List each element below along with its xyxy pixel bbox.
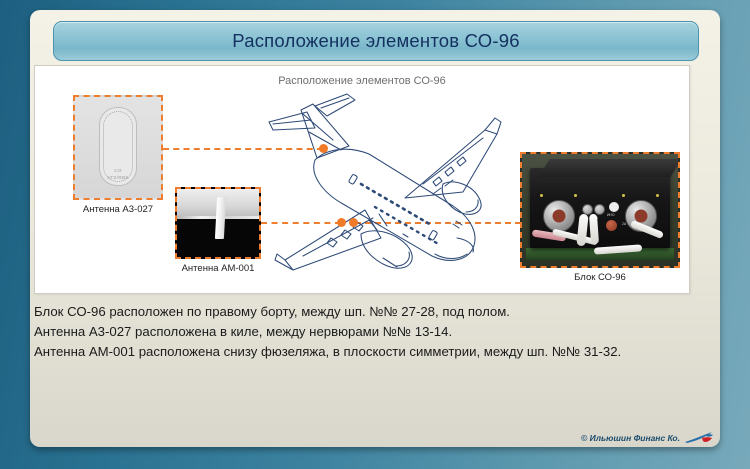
aircraft-diagram	[257, 88, 517, 288]
connector-small-2	[594, 204, 605, 215]
body-text: Блок СО-96 расположен по правому борту, …	[34, 302, 694, 362]
figure-caption-a3-027: Антенна А3-027	[73, 204, 163, 215]
slide-title-bar: Расположение элементов СО-96	[53, 21, 699, 61]
figure-block-co-96: 3 6 ИНО 2А Блок СО-96	[520, 152, 680, 283]
figure-antenna-a3-027: CO ATS/RBS Антенна А3-027	[73, 95, 163, 215]
screw-icon	[574, 194, 577, 197]
diagram-panel: Расположение элементов СО-96	[34, 65, 690, 294]
antenna-a3-027-image: CO ATS/RBS	[73, 95, 163, 200]
connector-core	[553, 210, 566, 223]
footer: © Ильюшин Финанс Ко.	[581, 431, 714, 445]
block-co-96-image: 3 6 ИНО 2А	[520, 152, 680, 268]
antenna-plate-line2: ATS/RBS	[100, 175, 136, 180]
company-logo-icon	[684, 431, 714, 445]
page-title: Расположение элементов СО-96	[232, 30, 519, 52]
antenna-am-001-image	[175, 187, 261, 259]
screw-icon	[656, 194, 659, 197]
screw-icon	[622, 194, 625, 197]
block-top-face	[538, 159, 680, 177]
marker-dot-am-001	[337, 218, 346, 227]
body-line-3: Антенна АМ-001 расположена снизу фюзеляж…	[34, 342, 694, 362]
figure-antenna-am-001: Антенна АМ-001	[175, 187, 261, 274]
block-tag-4: 2А	[622, 222, 626, 226]
indicator-lamp	[609, 202, 619, 212]
slide-card: Расположение элементов СО-96 Расположени…	[30, 10, 720, 447]
diagram-title: Расположение элементов СО-96	[35, 75, 689, 87]
antenna-plate-line1: CO	[100, 168, 136, 173]
blade-antenna-shape	[214, 197, 225, 239]
figure-caption-am-001: Антенна АМ-001	[175, 263, 261, 274]
reset-button	[606, 220, 617, 231]
block-tag-3: ИНО	[607, 213, 615, 217]
body-line-2: Антенна А3-027 расположена в киле, между…	[34, 322, 694, 342]
figure-caption-block-co-96: Блок СО-96	[520, 272, 680, 283]
marker-dot-a3-027	[319, 144, 328, 153]
body-line-1: Блок СО-96 расположен по правому борту, …	[34, 302, 694, 322]
connector-left	[543, 200, 575, 232]
aircraft-icon	[257, 88, 517, 288]
copyright-text: © Ильюшин Финанс Ко.	[581, 433, 680, 443]
marker-dot-block	[349, 218, 358, 227]
screw-icon	[540, 194, 543, 197]
antenna-plate-shape: CO ATS/RBS	[99, 107, 137, 186]
